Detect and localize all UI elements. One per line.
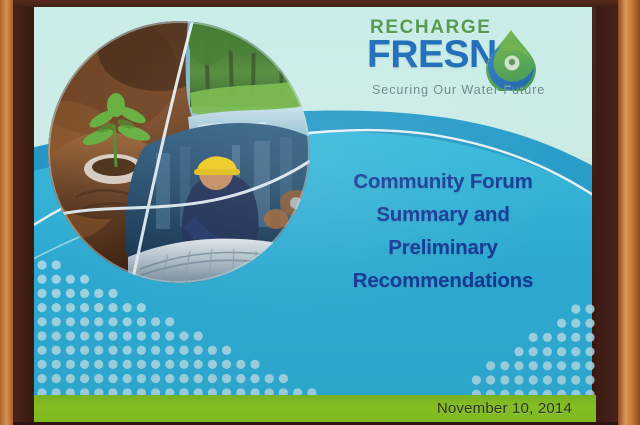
slide-date: November 10, 2014 [437, 400, 572, 417]
frame-top-edge [0, 0, 640, 7]
slide-title: Community Forum Summary and Preliminary … [302, 165, 584, 297]
title-line: Recommendations [302, 264, 584, 297]
title-line: Summary and [302, 198, 584, 231]
dot-pattern-right [466, 303, 596, 403]
frame-left-matte [13, 0, 34, 425]
photo-collage-circle [48, 21, 310, 283]
frame-left-wood [0, 0, 13, 425]
title-line: Preliminary [302, 231, 584, 264]
logo-tagline: Securing Our Water Future [372, 83, 545, 97]
logo-fresno-text: FRESN [367, 33, 497, 77]
water-droplet-swirl-icon [482, 27, 540, 91]
frame-right-wood [618, 0, 640, 425]
presentation-slide: RECHARGE FRESN [34, 7, 596, 422]
recharge-fresno-logo: RECHARGE FRESN [350, 15, 550, 110]
title-line: Community Forum [302, 165, 584, 198]
projected-slide-frame: RECHARGE FRESN [0, 0, 640, 425]
